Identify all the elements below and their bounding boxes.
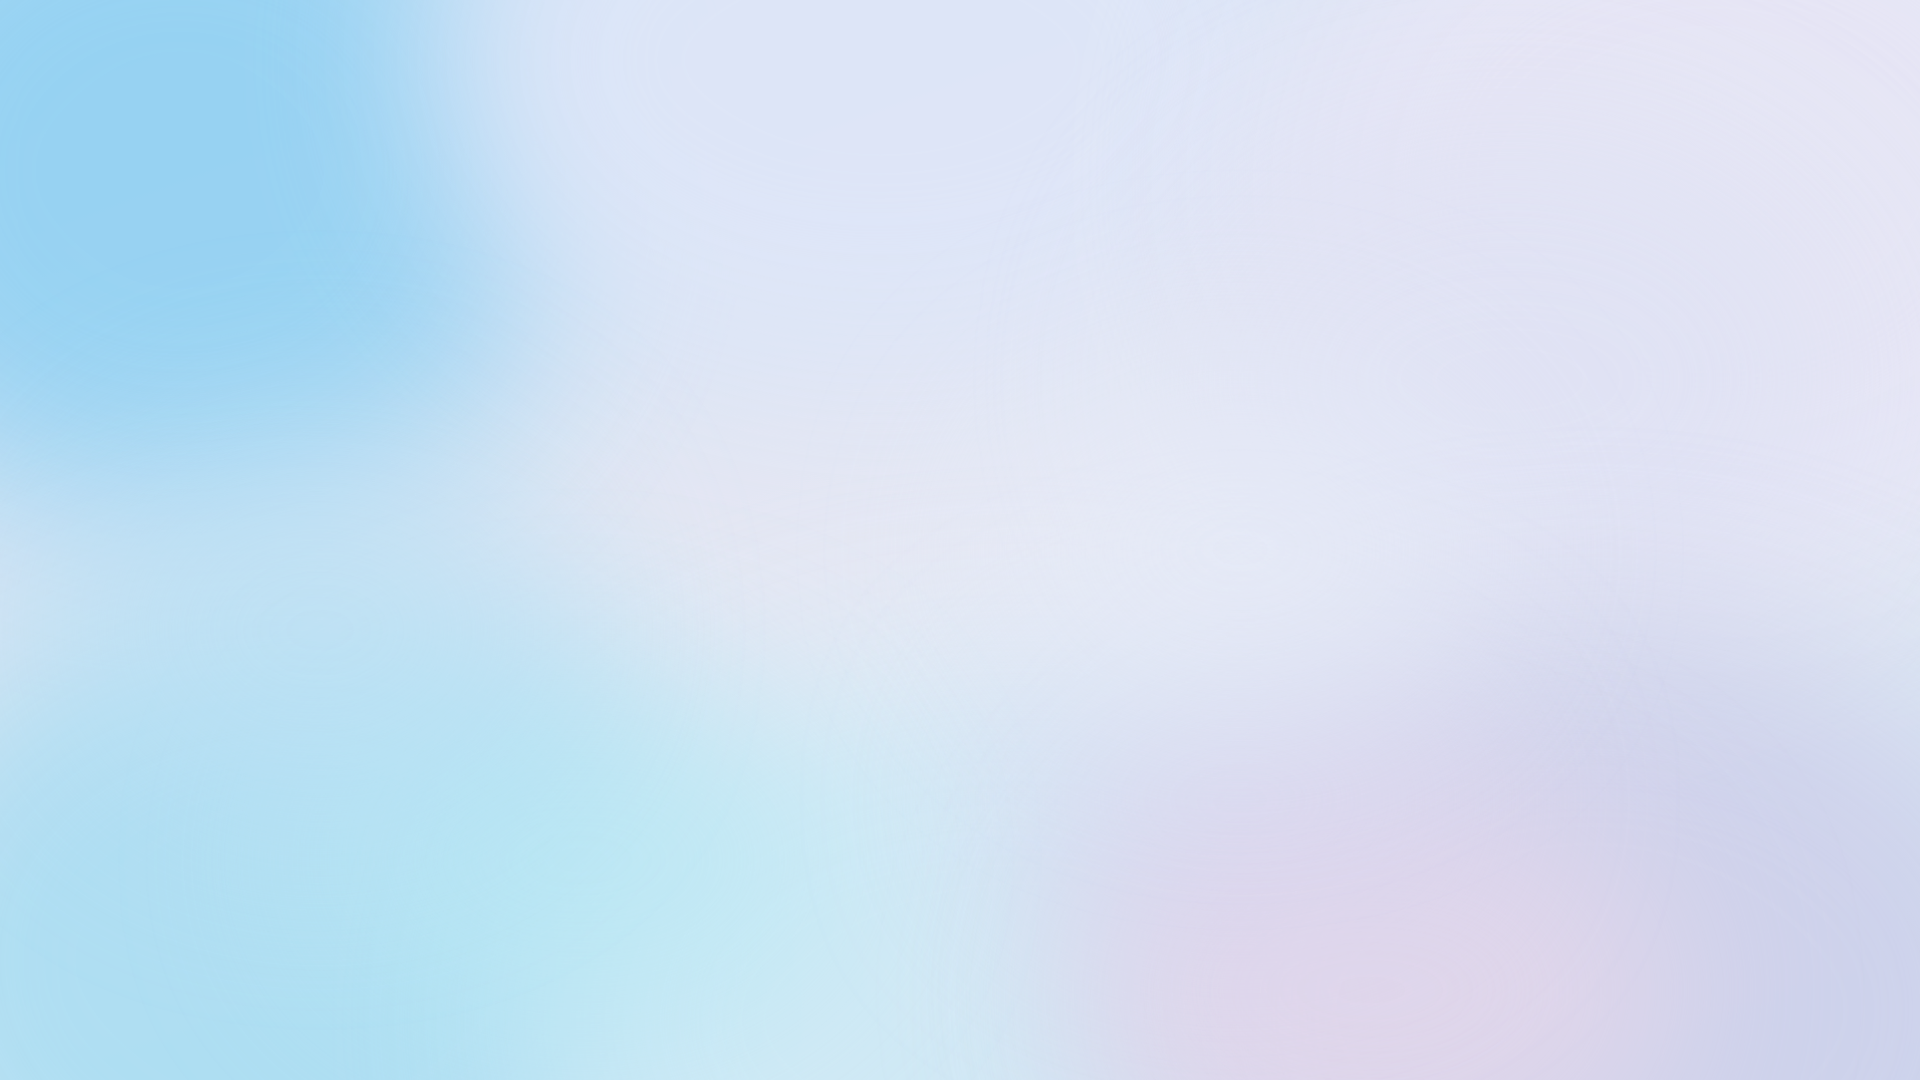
chevron-banner: [90, 365, 1850, 463]
process-diagram: [0, 0, 1920, 1080]
top-notes-row: [0, 185, 1920, 290]
